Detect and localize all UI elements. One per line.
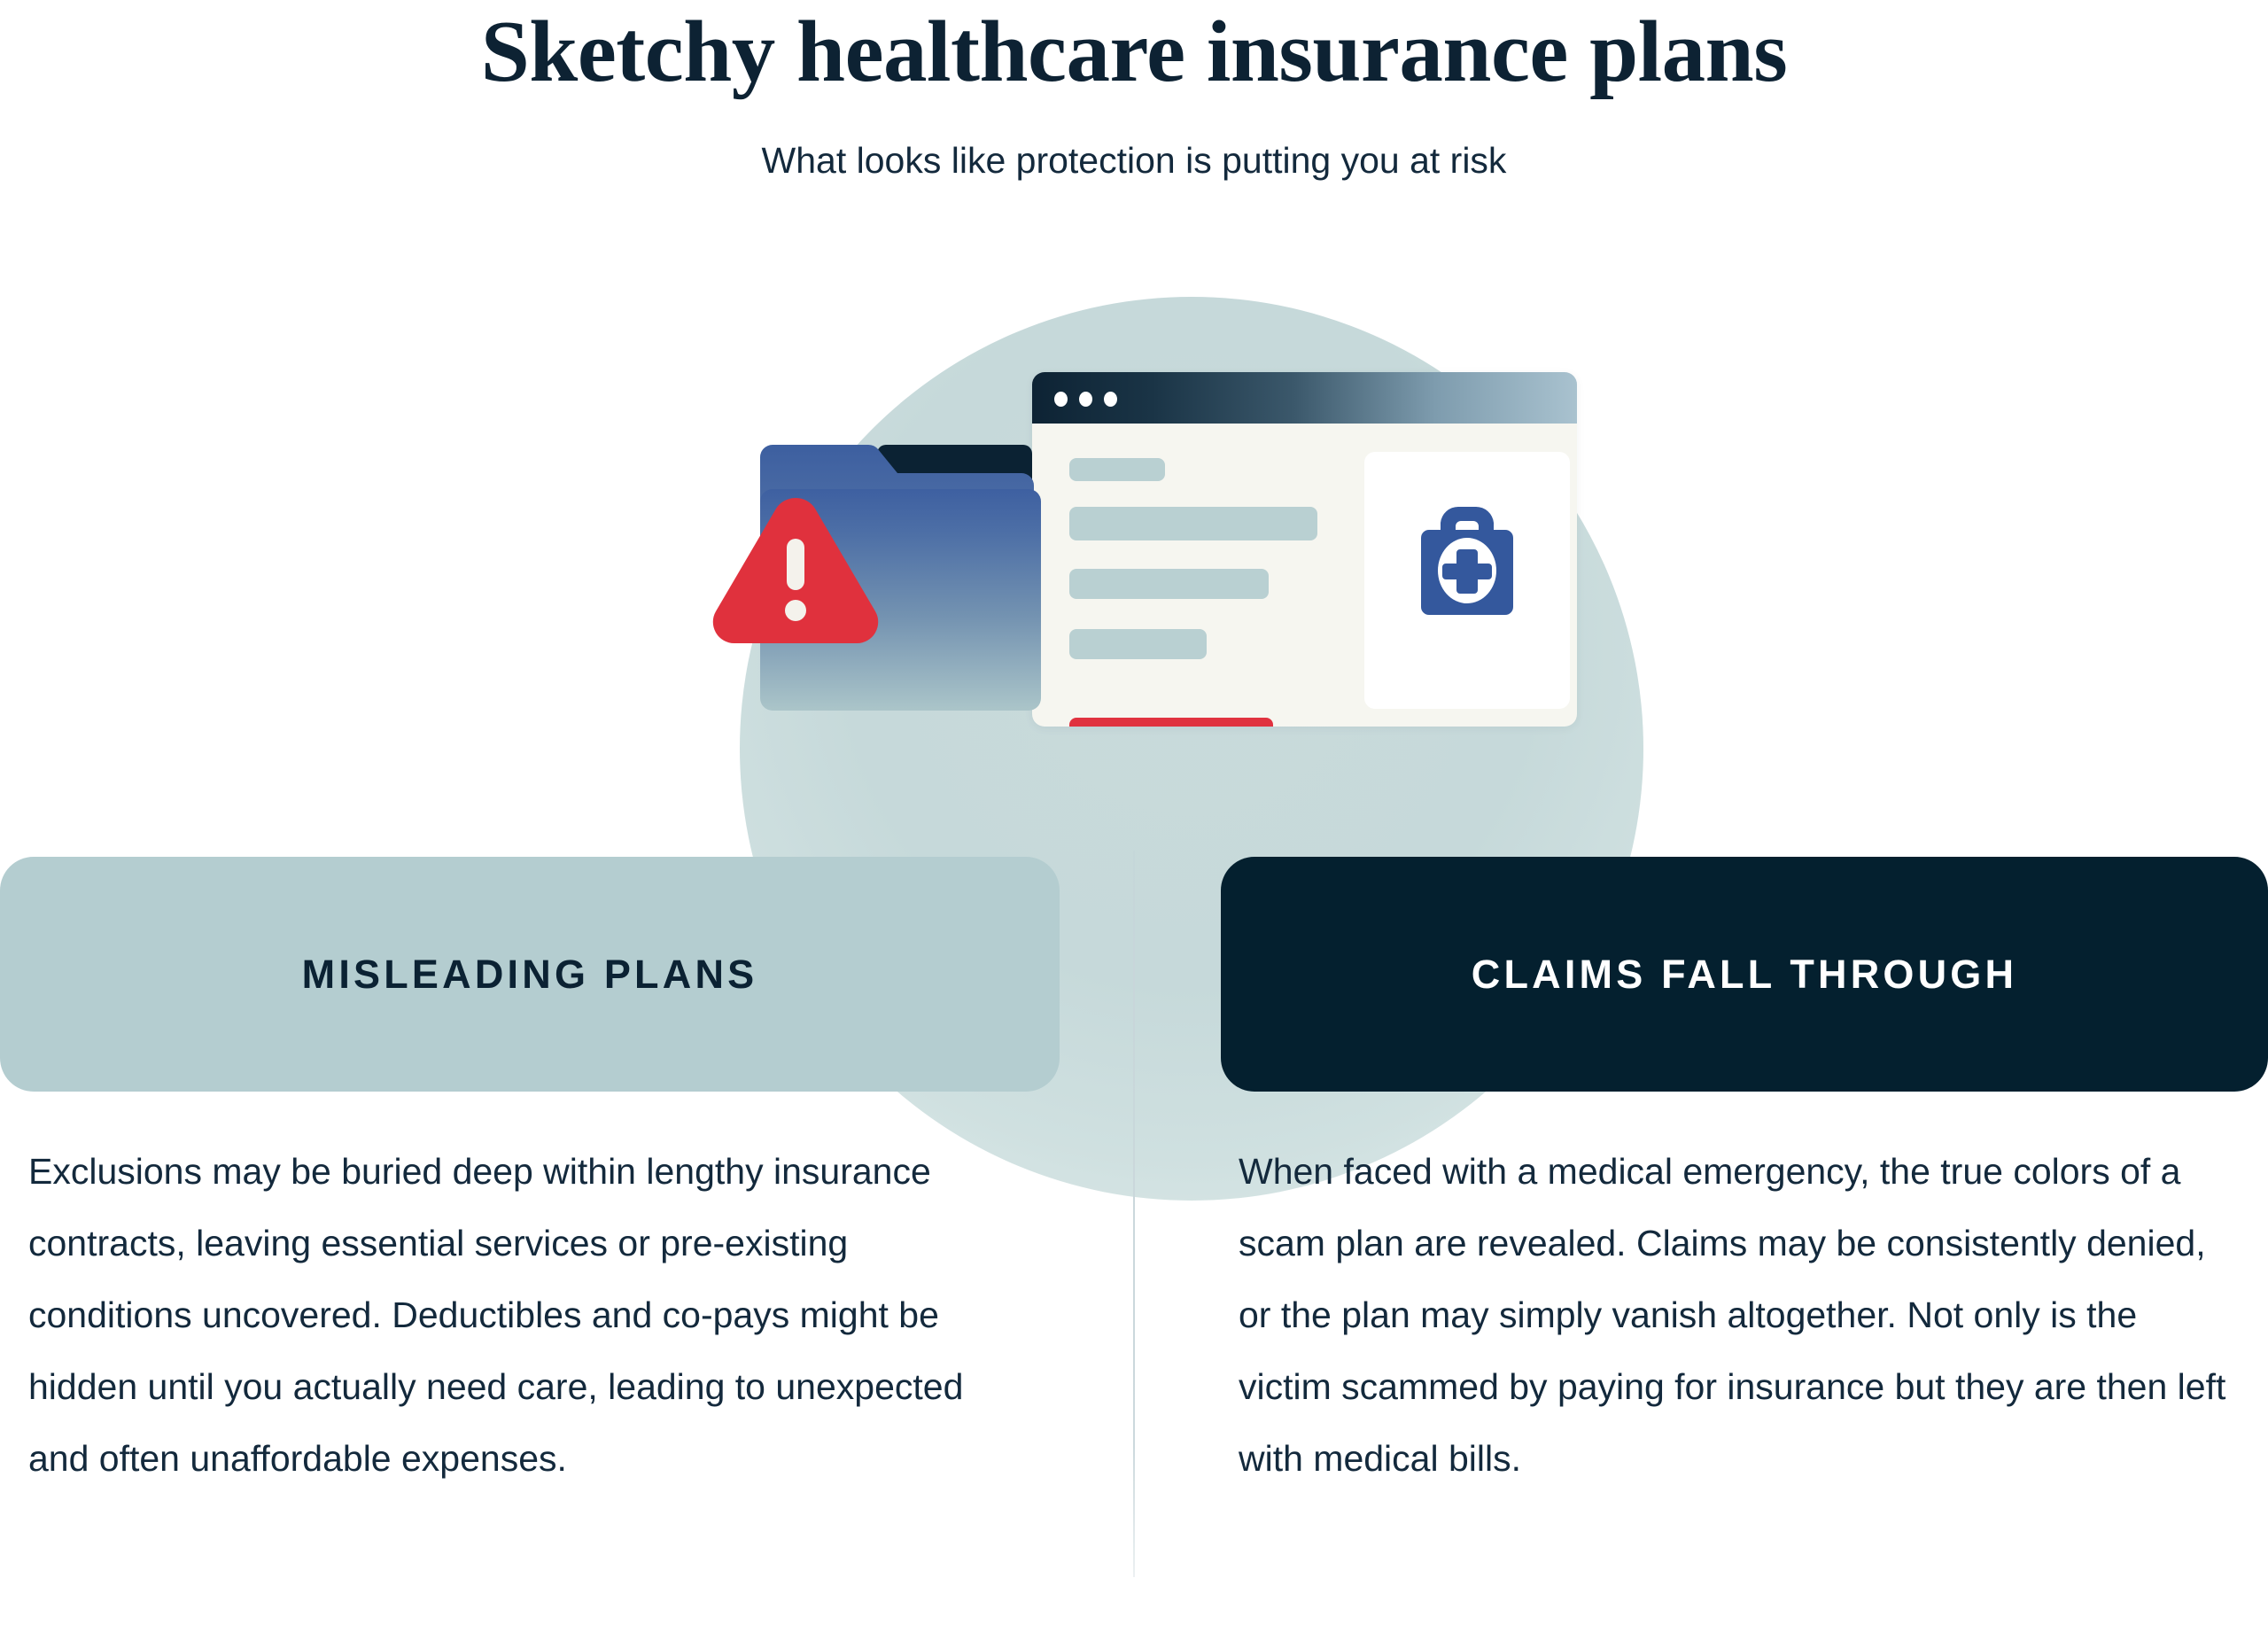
column-body-text: Exclusions may be buried deep within len… <box>28 1136 1016 1495</box>
window-dot-icon <box>1104 392 1117 407</box>
banner-claims-fall-through[interactable]: CLAIMS FALL THROUGH <box>1221 857 2268 1092</box>
page-subtitle: What looks like protection is putting yo… <box>0 137 2268 184</box>
medical-kit-icon <box>1402 496 1533 629</box>
banner-label: MISLEADING PLANS <box>302 952 758 998</box>
browser-title-bar <box>1032 372 1577 424</box>
infographic-page: Sketchy healthcare insurance plans What … <box>0 0 2268 1648</box>
page-title: Sketchy healthcare insurance plans <box>0 0 2268 100</box>
illustration-stage <box>372 266 1896 886</box>
banner-label: CLAIMS FALL THROUGH <box>1472 952 2017 998</box>
column-divider <box>1133 851 1135 1577</box>
warning-triangle-icon <box>707 487 884 647</box>
window-dot-icon <box>1079 392 1092 407</box>
header: Sketchy healthcare insurance plans What … <box>0 0 2268 184</box>
document-panel <box>1364 452 1570 709</box>
illustration <box>0 266 2268 886</box>
column-body-text: When faced with a medical emergency, the… <box>1239 1136 2240 1495</box>
banner-misleading-plans[interactable]: MISLEADING PLANS <box>0 857 1060 1092</box>
column-misleading-plans: Exclusions may be buried deep within len… <box>28 1136 1016 1495</box>
column-claims-fall-through: When faced with a medical emergency, the… <box>1239 1136 2240 1495</box>
window-dot-icon <box>1054 392 1068 407</box>
